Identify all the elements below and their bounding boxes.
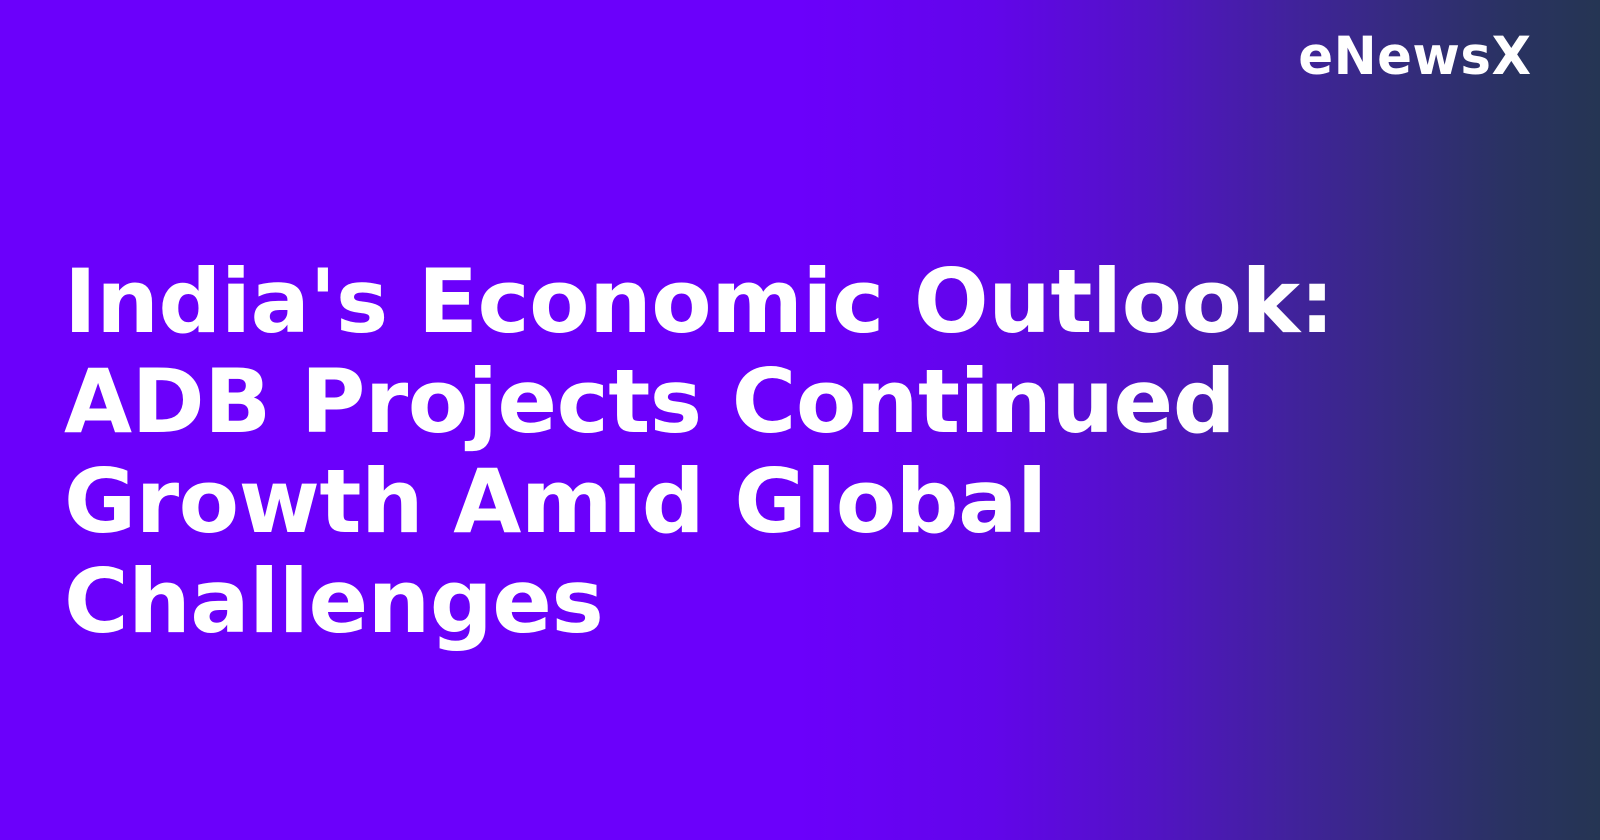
article-share-card: eNewsX India's Economic Outlook: ADB Pro… [0,0,1600,840]
brand-logo[interactable]: eNewsX [1291,30,1532,83]
page-title: India's Economic Outlook: ADB Projects C… [64,252,1344,652]
brand-wordmark-enewsx: eNewsX [1299,30,1532,83]
headline-container: India's Economic Outlook: ADB Projects C… [64,252,1344,652]
